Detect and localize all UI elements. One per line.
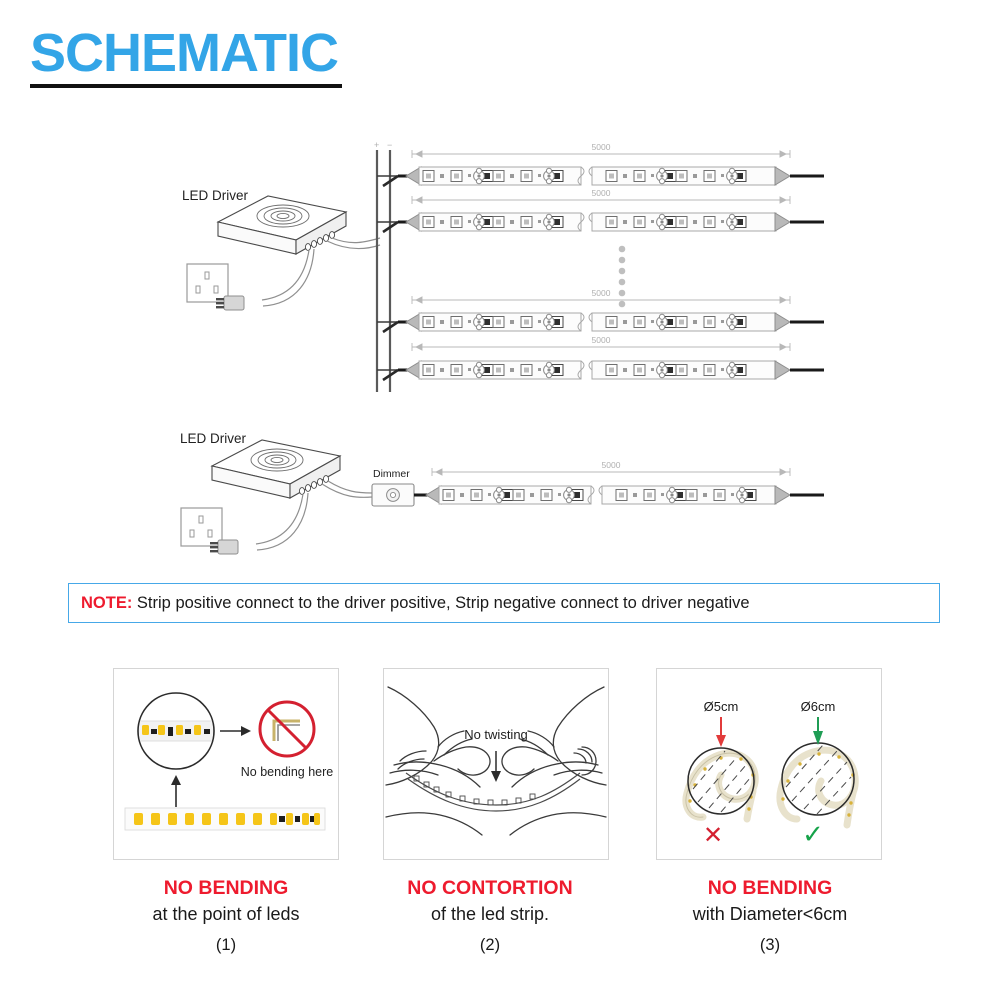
mark-bad: ✕ (703, 821, 723, 849)
down-arrow (491, 751, 501, 782)
instruction-panels: No bending here (0, 668, 1000, 868)
caption-2-head: NO CONTORTION (340, 876, 640, 900)
repeat-dots (619, 246, 626, 308)
diameter-label-good: Ø6cm (801, 699, 836, 714)
strip-row-3: 5000 (377, 288, 824, 332)
arrow-bad (716, 717, 726, 747)
caption-3-head: NO BENDING (620, 876, 920, 900)
bus-plus-label: + (374, 140, 379, 150)
panel-3-graphic: Ø5cm ✕ (657, 669, 881, 859)
svg-text:5000: 5000 (592, 288, 611, 298)
prohibition-symbol (260, 702, 314, 756)
panel-1-inline-text: No bending here (241, 765, 333, 779)
panel-2-inline-text: No twisting (464, 727, 528, 742)
good-bend-group: Ø6cm ✓ (780, 699, 855, 850)
note-text-wrapper: NOTE: Strip positive connect to the driv… (69, 594, 750, 613)
caption-1-num: (1) (76, 936, 376, 955)
panel-no-bending-diameter: Ø5cm ✕ (656, 668, 882, 860)
power-plug-2 (210, 540, 238, 554)
panel-no-contortion: No twisting (383, 668, 609, 860)
diameter-label-bad: Ø5cm (704, 699, 739, 714)
panel-no-bending-leds: No bending here (113, 668, 339, 860)
svg-text:5000: 5000 (602, 460, 621, 470)
note-label: NOTE: (81, 594, 132, 612)
svg-text:5000: 5000 (592, 335, 611, 345)
bus-minus-label: − (387, 140, 392, 150)
led-strip-sample (125, 808, 325, 830)
callout-arrow-up (171, 775, 181, 807)
svg-text:Dimmer: Dimmer (373, 468, 410, 480)
dimmer-module: Dimmer (372, 468, 432, 506)
wall-socket-1 (187, 264, 228, 302)
strip-row-4: 5000 (377, 335, 824, 380)
page-root: SCHEMATIC (0, 0, 1000, 1000)
strip-row-2: 5000 (377, 188, 824, 232)
caption-1-head: NO BENDING (76, 876, 376, 900)
caption-1-sub: at the point of leds (76, 901, 376, 927)
strip-row-1: 5000 (377, 142, 824, 186)
caption-panel-2: NO CONTORTION of the led strip. (2) (340, 876, 640, 955)
svg-text:LED Driver: LED Driver (180, 431, 247, 446)
wall-socket-2 (181, 508, 222, 546)
caption-3-num: (3) (620, 936, 920, 955)
svg-text:5000: 5000 (592, 188, 611, 198)
arrow-good (813, 717, 823, 745)
power-plug-1 (216, 296, 244, 310)
caption-2-num: (2) (340, 936, 640, 955)
strip-row-5: 5000 (426, 460, 824, 504)
flow-arrow-right (220, 726, 251, 736)
twisted-strip (406, 773, 580, 811)
panel-1-graphic: No bending here (114, 669, 338, 859)
dc-bus-bars: + − (374, 140, 392, 392)
caption-3-sub: with Diameter<6cm (620, 901, 920, 927)
svg-text:5000: 5000 (592, 142, 611, 152)
note-body: Strip positive connect to the driver pos… (132, 594, 749, 612)
mark-good: ✓ (802, 820, 824, 850)
caption-2-sub: of the led strip. (340, 901, 640, 927)
caption-panel-3: NO BENDING with Diameter<6cm (3) (620, 876, 920, 955)
panel-2-graphic: No twisting (384, 669, 608, 859)
bad-bend-group: Ø5cm ✕ (686, 699, 755, 849)
svg-text:LED Driver: LED Driver (182, 188, 249, 203)
caption-panel-1: NO BENDING at the point of leds (1) (76, 876, 376, 955)
note-box: NOTE: Strip positive connect to the driv… (68, 583, 940, 623)
schematic-drawing: LED Driver (0, 0, 1000, 580)
